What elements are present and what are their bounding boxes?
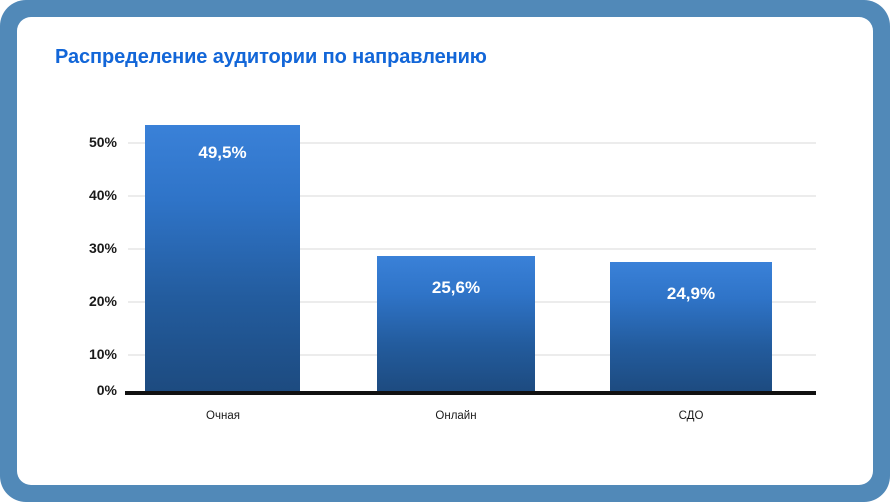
x-tick-label-sdo: СДО [679, 410, 704, 422]
plot-area: 50% 40% 30% 20% 10% 0% 49,5% 25,6% 24,9%… [17, 17, 873, 485]
chart-card: Распределение аудитории по направлению 5… [17, 17, 873, 485]
x-axis-line [125, 391, 816, 395]
bar-value-label: 24,9% [610, 284, 772, 304]
y-tick-label-30: 30% [57, 240, 117, 256]
y-tick-label-40: 40% [57, 187, 117, 203]
x-tick-label-ochnaya: Очная [206, 410, 240, 422]
outer-frame: Распределение аудитории по направлению 5… [0, 0, 890, 502]
bar-value-label: 25,6% [377, 278, 535, 298]
bar-value-label: 49,5% [145, 143, 300, 163]
bar-sdo[interactable]: 24,9% [610, 262, 772, 391]
bar-onlajn[interactable]: 25,6% [377, 256, 535, 391]
bar-ochnaya[interactable]: 49,5% [145, 125, 300, 391]
x-tick-label-onlajn: Онлайн [435, 410, 476, 422]
y-tick-label-10: 10% [57, 346, 117, 362]
y-tick-label-0: 0% [57, 382, 117, 398]
y-tick-label-20: 20% [57, 293, 117, 309]
y-tick-label-50: 50% [57, 134, 117, 150]
